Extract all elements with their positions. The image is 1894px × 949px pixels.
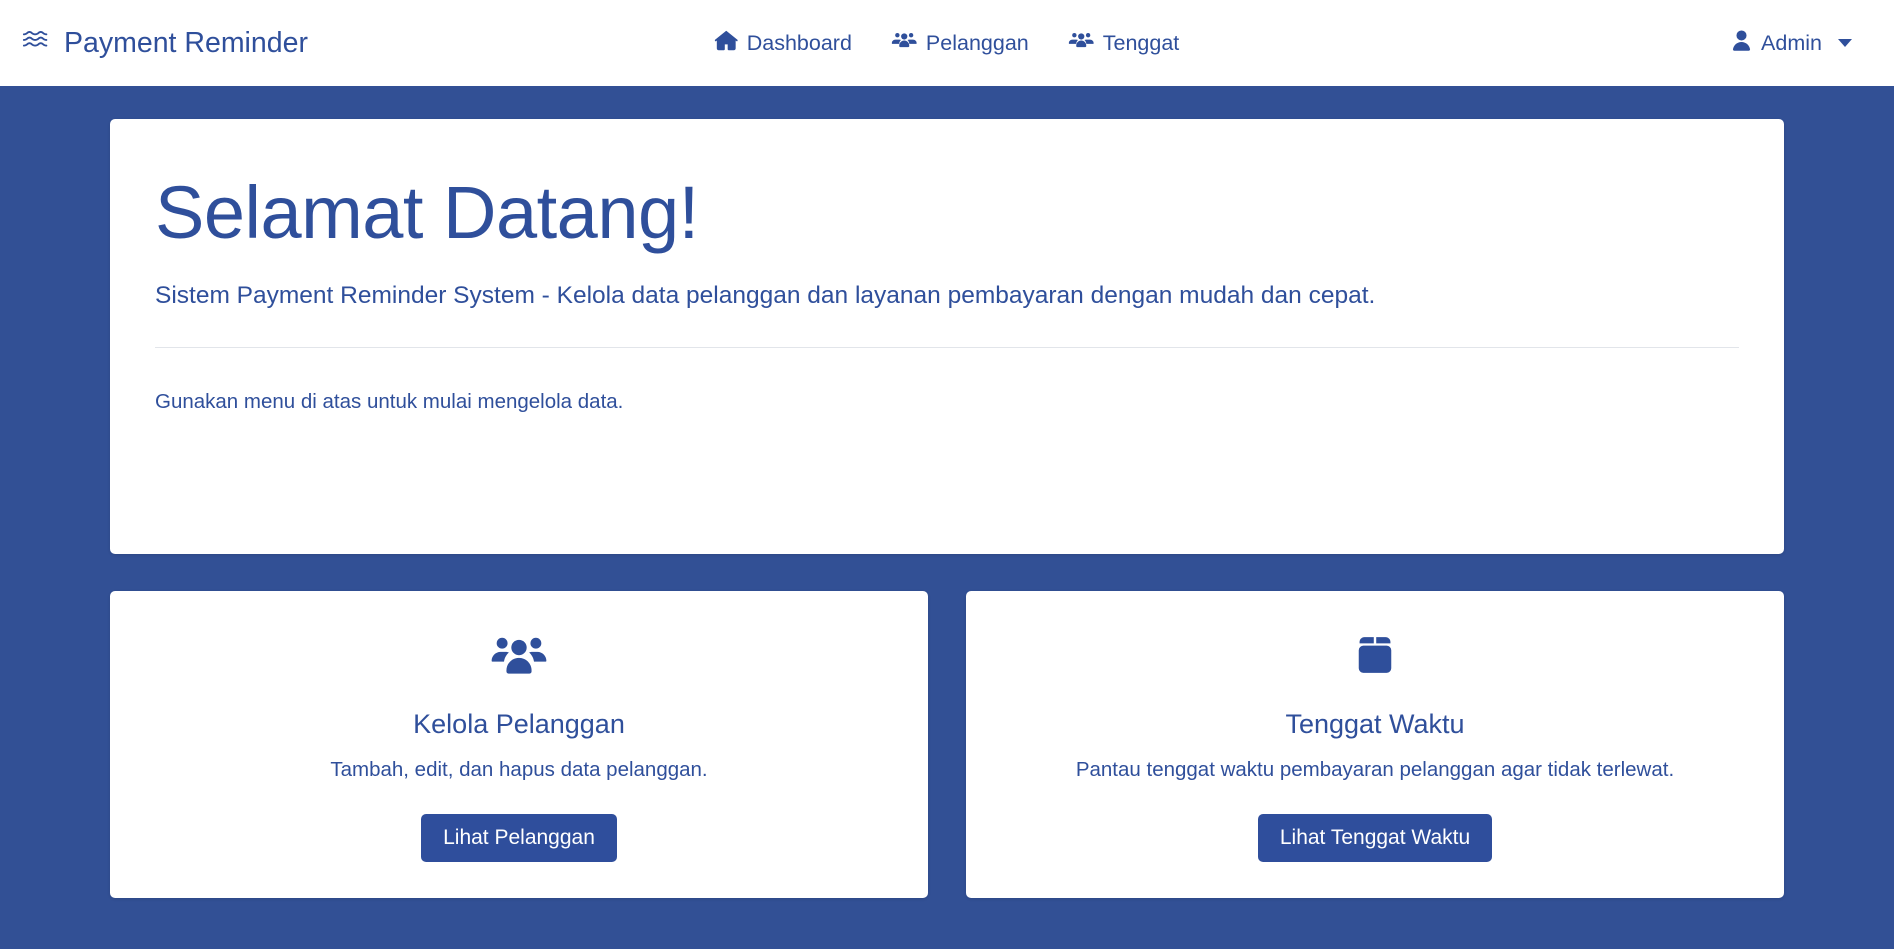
home-icon <box>715 29 738 58</box>
users-icon <box>1069 29 1094 58</box>
feature-description: Pantau tenggat waktu pembayaran pelangga… <box>1076 757 1674 784</box>
nav-item-dashboard[interactable]: Dashboard <box>715 29 852 58</box>
feature-card-tenggat: Tenggat Waktu Pantau tenggat waktu pemba… <box>966 591 1784 898</box>
nav-item-label: Pelanggan <box>926 31 1029 56</box>
users-icon <box>892 29 917 58</box>
page-body: Selamat Datang! Sistem Payment Reminder … <box>0 86 1894 898</box>
feature-description: Tambah, edit, dan hapus data pelanggan. <box>330 757 707 784</box>
nav-item-tenggat[interactable]: Tenggat <box>1069 29 1180 58</box>
hero-note: Gunakan menu di atas untuk mulai mengelo… <box>155 390 1739 414</box>
box-package-icon <box>1346 629 1404 686</box>
feature-title: Tenggat Waktu <box>1285 708 1464 740</box>
view-tenggat-button[interactable]: Lihat Tenggat Waktu <box>1258 814 1492 862</box>
top-navbar: Payment Reminder Dashboard <box>0 0 1894 86</box>
brand-label: Payment Reminder <box>64 29 308 58</box>
user-menu-label: Admin <box>1761 31 1822 56</box>
view-pelanggan-button[interactable]: Lihat Pelanggan <box>421 814 617 862</box>
users-group-icon <box>489 629 549 686</box>
nav-item-label: Tenggat <box>1103 31 1180 56</box>
feature-card-pelanggan: Kelola Pelanggan Tambah, edit, dan hapus… <box>110 591 928 898</box>
user-menu[interactable]: Admin <box>1731 29 1870 58</box>
content-container: Selamat Datang! Sistem Payment Reminder … <box>110 86 1784 898</box>
nav-item-label: Dashboard <box>747 31 852 56</box>
user-icon <box>1731 29 1752 58</box>
navbar-links: Dashboard Pelanggan <box>715 29 1180 58</box>
welcome-card: Selamat Datang! Sistem Payment Reminder … <box>110 119 1784 554</box>
feature-card-row: Kelola Pelanggan Tambah, edit, dan hapus… <box>110 591 1784 898</box>
feature-title: Kelola Pelanggan <box>413 708 625 740</box>
water-waves-icon <box>22 24 52 62</box>
brand-link[interactable]: Payment Reminder <box>22 24 308 62</box>
page-title: Selamat Datang! <box>155 173 1739 253</box>
chevron-down-icon <box>1838 39 1852 47</box>
hero-subtitle: Sistem Payment Reminder System - Kelola … <box>155 279 1739 312</box>
nav-item-pelanggan[interactable]: Pelanggan <box>892 29 1029 58</box>
hero-divider <box>155 347 1739 348</box>
